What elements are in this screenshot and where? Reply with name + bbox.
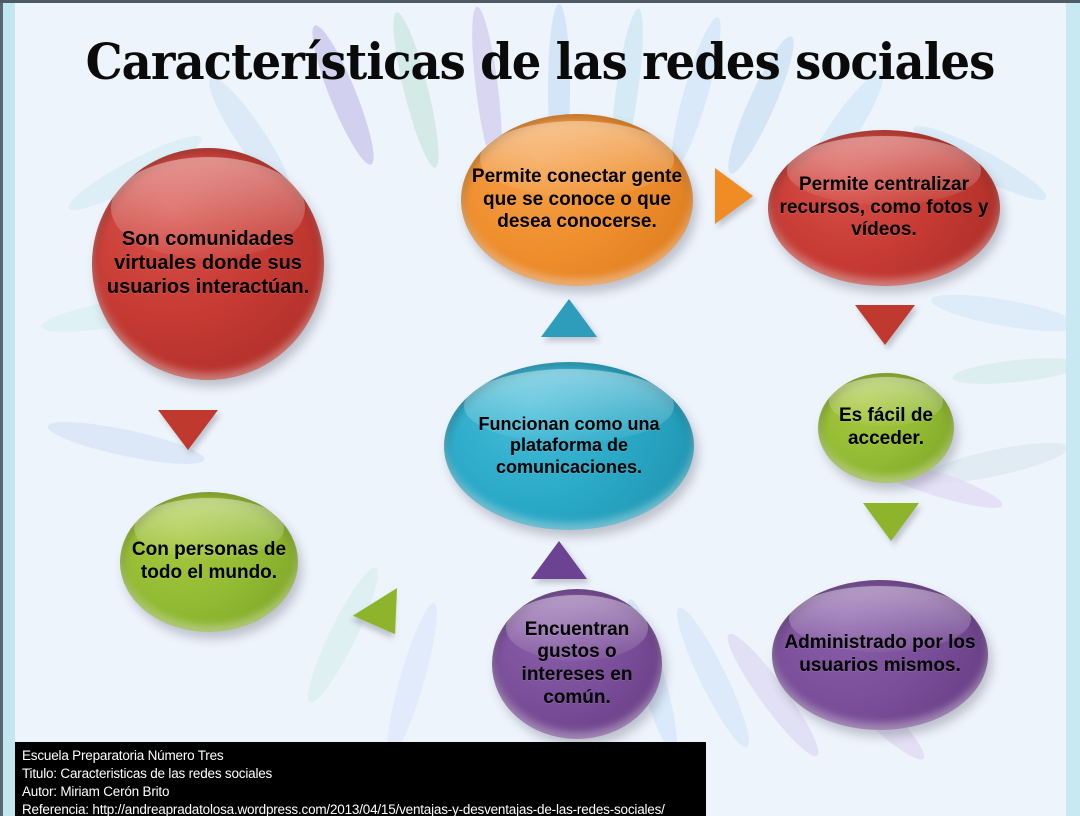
left-border-line (0, 0, 3, 816)
bubble-text: Encuentran gustos o intereses en común. (492, 619, 662, 709)
bubble-text: Son comunidades virtuales donde sus usua… (92, 228, 324, 299)
footer-author: Autor: Miriam Cerón Brito (22, 783, 706, 801)
bubble-permite-conectar[interactable]: Permite conectar gente que se conoce o q… (461, 114, 693, 286)
footer-credits: Escuela Preparatoria Número Tres Titulo:… (15, 742, 706, 816)
bubble-funcionan-plataforma[interactable]: Funcionan como una plataforma de comunic… (444, 362, 694, 530)
footer-title: Titulo: Caracteristicas de las redes soc… (22, 765, 706, 783)
bubble-text: Permite centralizar recursos, como fotos… (768, 174, 1000, 242)
bubble-es-facil-acceder[interactable]: Es fácil de acceder. (818, 373, 954, 483)
bubble-text: Funcionan como una plataforma de comunic… (444, 414, 694, 478)
footer-school: Escuela Preparatoria Número Tres (22, 747, 706, 765)
footer-reference: Referencia: http://andreapradatolosa.wor… (22, 801, 706, 816)
infographic-canvas: Características de las redes sociales So… (0, 0, 1080, 816)
page-title: Características de las redes sociales (38, 32, 1042, 91)
bubble-text: Con personas de todo el mundo. (120, 539, 298, 584)
bubble-con-personas[interactable]: Con personas de todo el mundo. (120, 492, 298, 632)
bubble-permite-centralizar[interactable]: Permite centralizar recursos, como fotos… (768, 130, 1000, 286)
triangle-up-icon (531, 541, 587, 579)
left-edge-strip (3, 0, 15, 816)
triangle-down-icon (855, 305, 915, 345)
bubble-encuentran-gustos[interactable]: Encuentran gustos o intereses en común. (492, 589, 662, 739)
triangle-down-icon (863, 503, 919, 541)
bubble-text: Es fácil de acceder. (818, 405, 954, 450)
triangle-up-icon (541, 299, 597, 337)
bubble-son-comunidades[interactable]: Son comunidades virtuales donde sus usua… (92, 148, 324, 380)
bubble-text: Permite conectar gente que se conoce o q… (461, 166, 693, 234)
bubble-text: Administrado por los usuarios mismos. (772, 632, 988, 677)
right-edge-strip (1066, 0, 1080, 816)
triangle-down-icon (158, 410, 218, 450)
bubble-administrado-usuarios[interactable]: Administrado por los usuarios mismos. (772, 580, 988, 730)
triangle-right-icon (715, 168, 753, 224)
top-border-line (0, 0, 1080, 3)
